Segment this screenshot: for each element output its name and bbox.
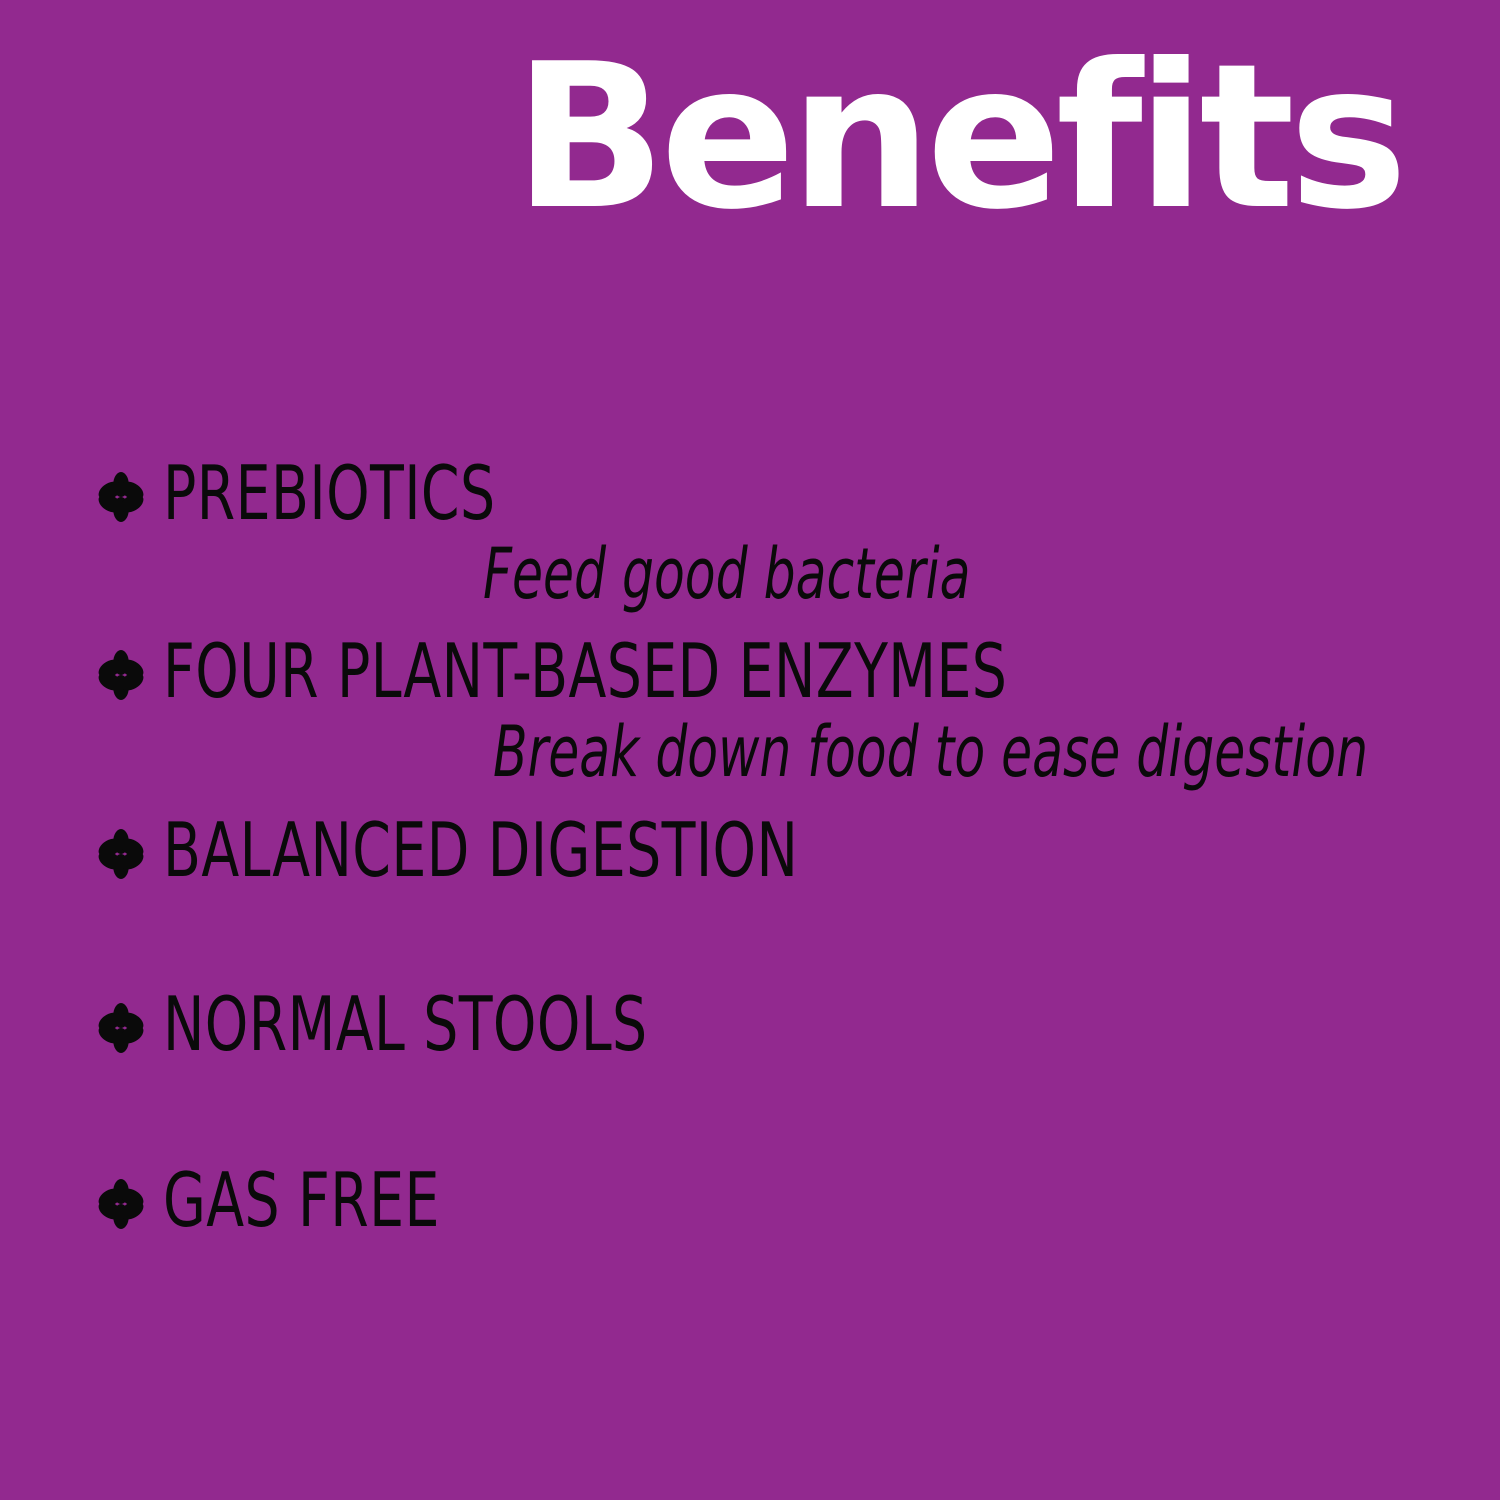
benefit-headline: NORMAL STOOLS <box>95 986 754 1063</box>
flower-asterisk-icon <box>95 471 147 523</box>
flower-asterisk-icon <box>95 1178 147 1230</box>
benefit-subtext: Feed good bacteria <box>483 538 970 612</box>
benefit-label: NORMAL STOOLS <box>163 986 648 1063</box>
benefit-label: PREBIOTICS <box>163 455 496 532</box>
list-item: NORMAL STOOLS <box>95 986 754 1063</box>
benefit-label: BALANCED DIGESTION <box>163 812 798 889</box>
list-item: BALANCED DIGESTION <box>95 812 938 889</box>
benefit-label: GAS FREE <box>163 1162 440 1239</box>
benefit-subtext: Break down food to ease digestion <box>493 716 1368 790</box>
flower-asterisk-icon <box>95 649 147 701</box>
benefits-infographic: Benefits PREBI <box>0 0 1500 1500</box>
flower-asterisk-icon <box>95 828 147 880</box>
benefits-list: PREBIOTICS Feed good bacteria <box>0 0 1500 1500</box>
benefit-headline: FOUR PLANT-BASED ENZYMES <box>95 633 1500 710</box>
list-item: FOUR PLANT-BASED ENZYMES Break down food… <box>95 633 1500 789</box>
benefit-headline: GAS FREE <box>95 1162 501 1239</box>
benefit-headline: BALANCED DIGESTION <box>95 812 938 889</box>
flower-asterisk-icon <box>95 1002 147 1054</box>
benefit-headline: PREBIOTICS <box>95 455 1092 532</box>
list-item: GAS FREE <box>95 1162 501 1239</box>
list-item: PREBIOTICS Feed good bacteria <box>95 455 1092 611</box>
benefit-label: FOUR PLANT-BASED ENZYMES <box>163 633 1007 710</box>
